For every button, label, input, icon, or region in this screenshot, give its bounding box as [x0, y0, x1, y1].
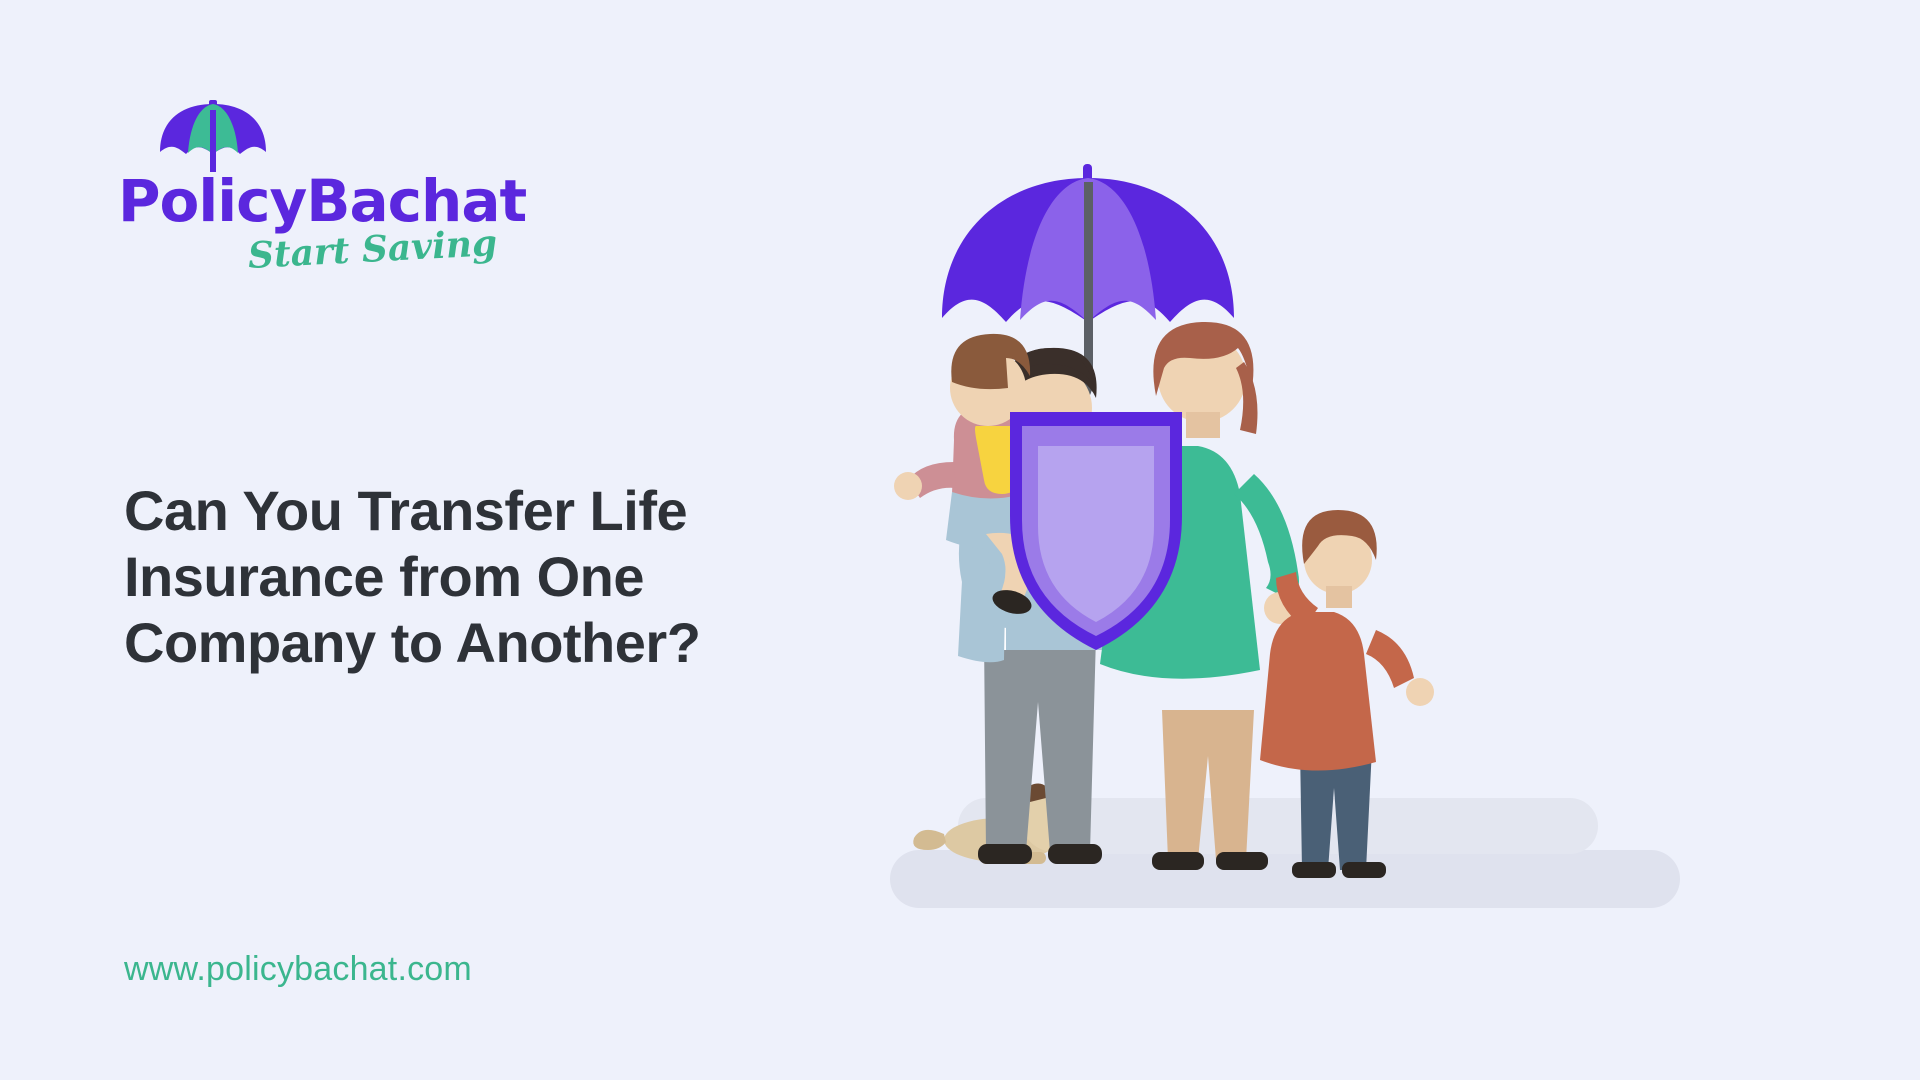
brand-logo[interactable]: PolicyBachat Start Saving — [118, 98, 538, 298]
poster-canvas: PolicyBachat Start Saving Can You Transf… — [0, 0, 1920, 1080]
headline-line-1: Can You Transfer Life — [124, 478, 824, 544]
page-title: Can You Transfer Life Insurance from One… — [124, 478, 824, 676]
headline-line-3: Company to Another? — [124, 610, 824, 676]
brand-tagline: Start Saving — [247, 225, 498, 274]
illustration-svg — [880, 150, 1720, 950]
website-url[interactable]: www.policybachat.com — [124, 950, 472, 989]
family-illustration — [880, 150, 1720, 950]
brand-wordmark: PolicyBachat — [118, 172, 526, 230]
headline-line-2: Insurance from One — [124, 544, 824, 610]
umbrella-icon — [158, 98, 268, 178]
